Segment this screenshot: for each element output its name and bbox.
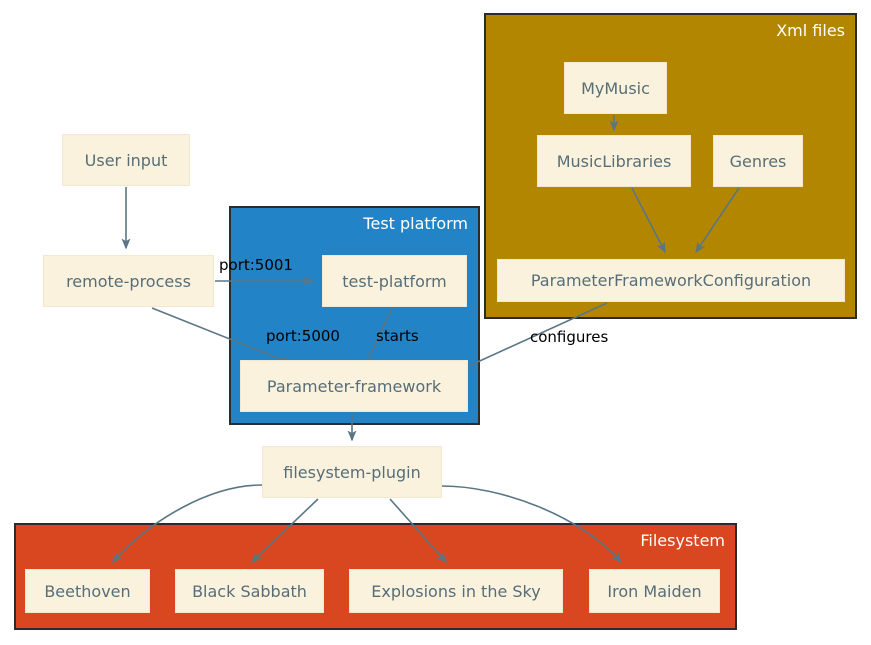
node-iron-maiden[interactable]: Iron Maiden bbox=[589, 569, 720, 613]
node-parameter-framework-configuration-label: ParameterFrameworkConfiguration bbox=[531, 271, 811, 290]
node-mymusic-label: MyMusic bbox=[581, 79, 650, 98]
node-remote-process-label: remote-process bbox=[66, 272, 191, 291]
group-filesystem-label: Filesystem bbox=[640, 531, 725, 551]
node-test-platform[interactable]: test-platform bbox=[322, 255, 467, 307]
node-iron-maiden-label: Iron Maiden bbox=[607, 582, 701, 601]
edge-label-configures: configures bbox=[530, 329, 608, 346]
diagram-canvas: Xml files Test platform Filesystem bbox=[0, 0, 871, 645]
node-mymusic[interactable]: MyMusic bbox=[564, 62, 667, 114]
node-parameter-framework-configuration[interactable]: ParameterFrameworkConfiguration bbox=[497, 259, 845, 302]
node-musiclibraries-label: MusicLibraries bbox=[557, 152, 672, 171]
node-musiclibraries[interactable]: MusicLibraries bbox=[537, 135, 691, 187]
node-parameter-framework-label: Parameter-framework bbox=[267, 377, 441, 396]
node-filesystem-plugin[interactable]: filesystem-plugin bbox=[262, 446, 442, 498]
node-black-sabbath[interactable]: Black Sabbath bbox=[175, 569, 324, 613]
node-explosions-in-the-sky[interactable]: Explosions in the Sky bbox=[349, 569, 563, 613]
node-beethoven-label: Beethoven bbox=[44, 582, 130, 601]
node-black-sabbath-label: Black Sabbath bbox=[192, 582, 307, 601]
group-xml-files-label: Xml files bbox=[776, 21, 845, 41]
node-user-input-label: User input bbox=[85, 151, 168, 170]
node-user-input[interactable]: User input bbox=[62, 134, 190, 186]
node-genres[interactable]: Genres bbox=[713, 135, 803, 187]
group-test-platform-label: Test platform bbox=[363, 214, 468, 234]
edge-label-starts: starts bbox=[376, 328, 419, 345]
node-parameter-framework[interactable]: Parameter-framework bbox=[240, 360, 468, 412]
node-remote-process[interactable]: remote-process bbox=[43, 255, 214, 307]
node-beethoven[interactable]: Beethoven bbox=[25, 569, 150, 613]
node-filesystem-plugin-label: filesystem-plugin bbox=[283, 463, 420, 482]
node-test-platform-label: test-platform bbox=[342, 272, 446, 291]
node-genres-label: Genres bbox=[730, 152, 787, 171]
node-explosions-in-the-sky-label: Explosions in the Sky bbox=[371, 582, 540, 601]
edge-label-port-5000: port:5000 bbox=[266, 328, 340, 345]
edge-label-port-5001: port:5001 bbox=[219, 257, 293, 274]
